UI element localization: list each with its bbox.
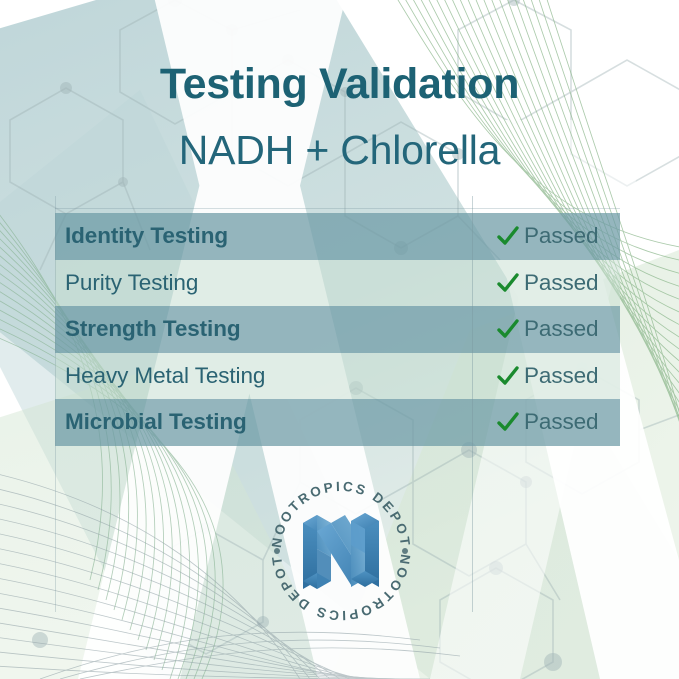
table-column-divider (472, 196, 473, 612)
status-badge: Passed (524, 363, 598, 389)
test-result: Passed (472, 223, 620, 249)
table-row: Microbial Testing Passed (55, 399, 620, 446)
table-row: Heavy Metal Testing Passed (55, 353, 620, 400)
test-name: Purity Testing (55, 270, 472, 296)
test-name: Microbial Testing (55, 409, 472, 435)
table-row: Identity Testing Passed (55, 213, 620, 260)
validation-table: Identity Testing Passed Purity Testing P… (55, 213, 620, 446)
check-icon (496, 364, 520, 388)
table-row: Strength Testing Passed (55, 306, 620, 353)
logo-dot-right (402, 548, 408, 554)
validation-graphic: Testing Validation NADH + Chlorella Iden… (0, 0, 679, 679)
header: Testing Validation NADH + Chlorella (0, 60, 679, 174)
logo-dot-left (274, 548, 280, 554)
status-badge: Passed (524, 270, 598, 296)
status-badge: Passed (524, 316, 598, 342)
page-title: Testing Validation (0, 60, 679, 108)
test-name: Heavy Metal Testing (55, 363, 472, 389)
test-result: Passed (472, 270, 620, 296)
status-badge: Passed (524, 409, 598, 435)
status-badge: Passed (524, 223, 598, 249)
test-result: Passed (472, 316, 620, 342)
check-icon (496, 317, 520, 341)
test-result: Passed (472, 409, 620, 435)
check-icon (496, 271, 520, 295)
check-icon (496, 224, 520, 248)
table-top-rule (55, 208, 620, 209)
test-name: Identity Testing (55, 223, 472, 249)
test-result: Passed (472, 363, 620, 389)
test-name: Strength Testing (55, 316, 472, 342)
logo-monogram-n (303, 513, 379, 589)
table-row: Purity Testing Passed (55, 260, 620, 307)
table-left-divider (55, 196, 56, 612)
check-icon (496, 410, 520, 434)
product-subtitle: NADH + Chlorella (0, 128, 679, 174)
nootropics-depot-logo: NOOTROPICS DEPOT NOOTROPICS DEPOT (267, 477, 415, 625)
